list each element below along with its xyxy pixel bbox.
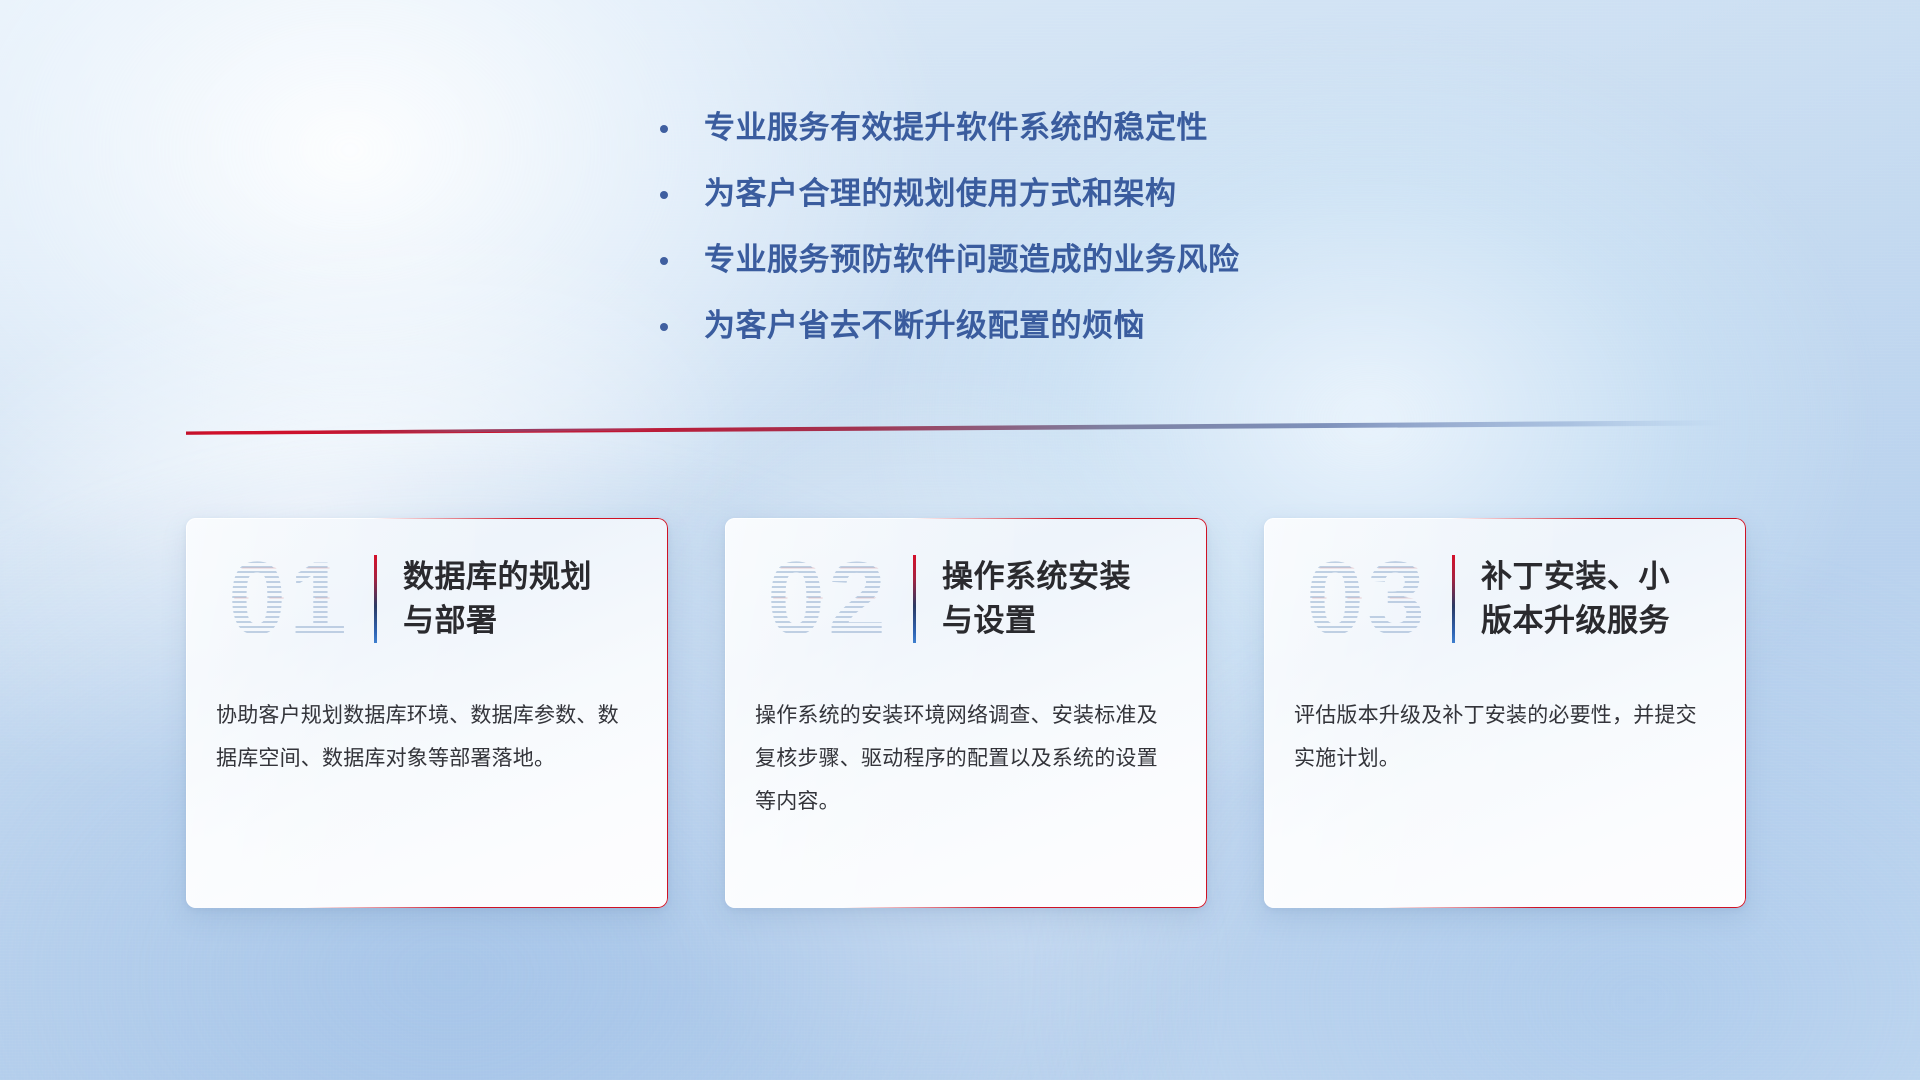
bullet-dot-icon: [660, 191, 668, 199]
list-item: 专业服务有效提升软件系统的稳定性: [660, 108, 1560, 148]
service-card[interactable]: 03 03 补丁安装、小 版本升级服务 评估版本升级及补丁安装的必要性，并提交实…: [1264, 518, 1746, 908]
bullet-text: 专业服务有效提升软件系统的稳定性: [704, 108, 1208, 148]
list-item: 专业服务预防软件问题造成的业务风险: [660, 240, 1560, 280]
card-header: 03 03 补丁安装、小 版本升级服务: [1264, 518, 1746, 680]
list-item: 为客户省去不断升级配置的烦恼: [660, 306, 1560, 346]
card-body-text: 评估版本升级及补丁安装的必要性，并提交实施计划。: [1264, 694, 1746, 780]
card-title-rule: [1452, 555, 1455, 643]
card-number-glyph-ghost: 02: [755, 541, 905, 657]
service-card-group: 01 01 数据库的规划 与部署 协助客户规划数据库环境、数据库参数、数据库空间…: [186, 518, 1746, 908]
bullet-text: 为客户省去不断升级配置的烦恼: [704, 306, 1145, 346]
bullet-dot-icon: [660, 125, 668, 133]
card-title: 操作系统安装 与设置: [942, 555, 1131, 643]
list-item: 为客户合理的规划使用方式和架构: [660, 174, 1560, 214]
service-card[interactable]: 01 01 数据库的规划 与部署 协助客户规划数据库环境、数据库参数、数据库空间…: [186, 518, 668, 908]
section-divider: [186, 418, 1726, 438]
card-body-text: 协助客户规划数据库环境、数据库参数、数据库空间、数据库对象等部署落地。: [186, 694, 668, 780]
card-number-glyph-ghost: 03: [1294, 541, 1444, 657]
bullet-text: 专业服务预防软件问题造成的业务风险: [704, 240, 1240, 280]
card-body-text: 操作系统的安装环境网络调查、安装标准及复核步骤、驱动程序的配置以及系统的设置等内…: [725, 694, 1207, 823]
card-title-rule: [374, 555, 377, 643]
slide-stage: 专业服务有效提升软件系统的稳定性 为客户合理的规划使用方式和架构 专业服务预防软…: [0, 0, 1920, 1080]
tapered-divider-shape: [186, 418, 1726, 438]
card-number-glyph-ghost: 01: [216, 541, 366, 657]
card-title-rule: [913, 555, 916, 643]
benefits-bullet-list: 专业服务有效提升软件系统的稳定性 为客户合理的规划使用方式和架构 专业服务预防软…: [660, 108, 1560, 372]
card-title: 补丁安装、小 版本升级服务: [1481, 555, 1670, 643]
card-title: 数据库的规划 与部署: [403, 555, 592, 643]
card-header: 02 02 操作系统安装 与设置: [725, 518, 1207, 680]
card-number-watermark: 01 01: [214, 541, 364, 657]
service-card[interactable]: 02 02 操作系统安装 与设置 操作系统的安装环境网络调查、安装标准及复核步骤…: [725, 518, 1207, 908]
bullet-dot-icon: [660, 323, 668, 331]
card-header: 01 01 数据库的规划 与部署: [186, 518, 668, 680]
card-number-watermark: 03 03: [1292, 541, 1442, 657]
bullet-dot-icon: [660, 257, 668, 265]
bullet-text: 为客户合理的规划使用方式和架构: [704, 174, 1177, 214]
card-number-watermark: 02 02: [753, 541, 903, 657]
